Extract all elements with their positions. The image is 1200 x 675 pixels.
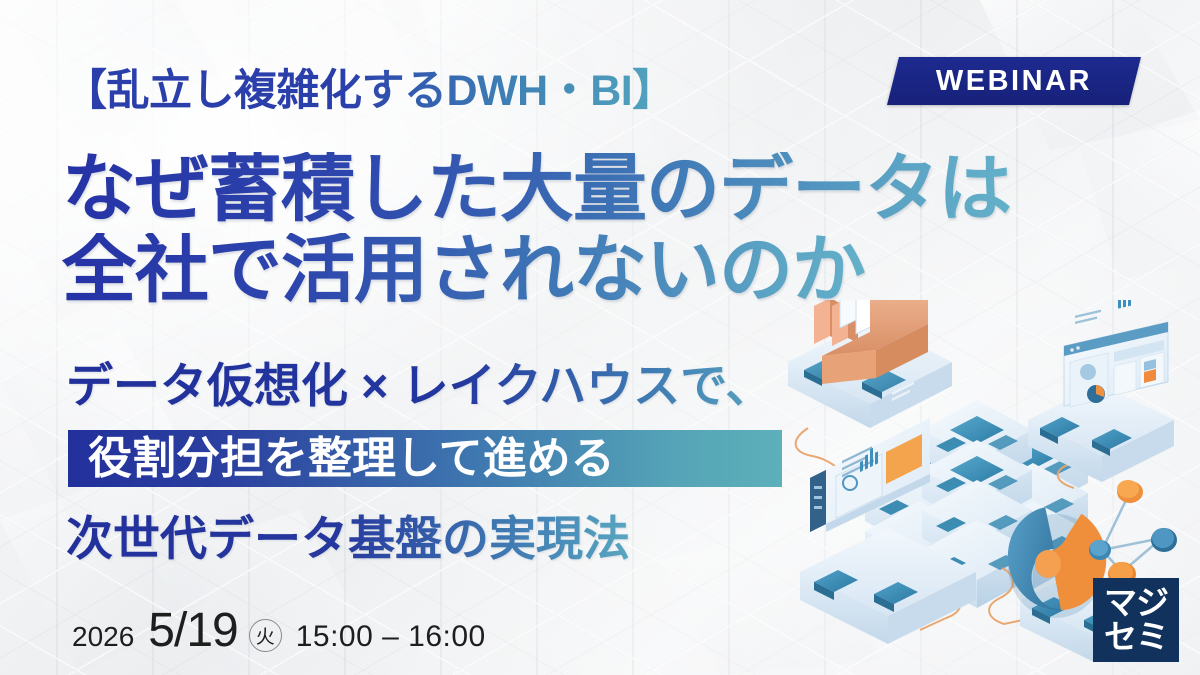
majisemi-logo: マジ セミ	[1093, 578, 1179, 662]
schedule-day-of-week: 火	[256, 622, 275, 649]
schedule-day-of-week-badge: 火	[249, 619, 282, 652]
webinar-badge-label: WEBINAR	[936, 65, 1092, 98]
highlight-bar-label: 役割分担を整理して進める	[88, 434, 615, 483]
subtitle-line-2: 次世代データ基盤の実現法	[66, 500, 630, 569]
schedule-date: 5/19	[148, 603, 237, 658]
bracket-title: 【乱立し複雑化するDWH・BI】	[64, 56, 675, 118]
headline-line-1: なぜ蓄積した大量のデータは	[62, 152, 1011, 226]
schedule-row: 2026 5/19 火 15:00 – 16:00	[72, 603, 486, 658]
schedule-year: 2026	[72, 621, 134, 653]
logo-line-2: セミ	[1104, 620, 1168, 654]
logo-line-1: マジ	[1104, 586, 1168, 620]
subtitle-line-1: データ仮想化 × レイクハウスで、	[66, 347, 772, 416]
schedule-time: 15:00 – 16:00	[296, 620, 486, 654]
headline-line-2: 全社で活用されないのか	[62, 233, 865, 307]
webinar-badge: WEBINAR	[887, 57, 1141, 105]
webinar-banner: WEBINAR 【乱立し複雑化するDWH・BI】 なぜ蓄積した大量のデータは 全…	[0, 0, 1200, 675]
